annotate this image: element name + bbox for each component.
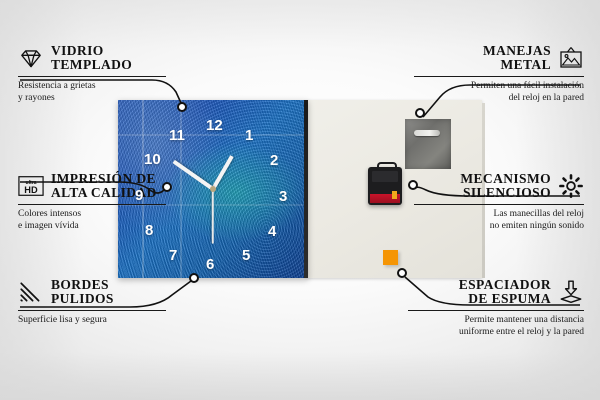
quartz-movement-box (368, 167, 402, 205)
callout-mecanismo-silencioso[interactable]: MECANISMO SILENCIOSO Las manecillas del … (412, 172, 584, 232)
callout-head: MECANISMO SILENCIOSO (412, 172, 584, 200)
movement-top (372, 171, 398, 182)
foam-spacer (383, 250, 398, 265)
clock-numeral-1: 1 (245, 128, 253, 143)
callout-rule (18, 310, 166, 311)
clock-hour-hand (211, 155, 233, 190)
clock-numeral-7: 7 (169, 248, 177, 263)
callout-title: MANEJAS METAL (483, 44, 551, 72)
callout-head: BORDES PULIDOS (18, 278, 168, 306)
hanger-slot (414, 130, 440, 136)
clock-numeral-9: 9 (135, 188, 143, 203)
ultra-hd-icon: ultra HD (18, 173, 44, 199)
diamond-icon (18, 45, 44, 71)
callout-rule (414, 76, 584, 77)
callout-description: Las manecillas del reloj no emiten ningú… (412, 209, 584, 232)
callout-bordes-pulidos[interactable]: BORDES PULIDOS Superficie lisa y segura (18, 278, 168, 327)
callout-description: Resistencia a grietas y rayones (18, 81, 168, 104)
callout-espaciador-espuma[interactable]: ESPACIADOR DE ESPUMA Permite mantener un… (406, 278, 584, 338)
metal-hanger-plate (405, 119, 451, 169)
callout-rule (18, 76, 166, 77)
callout-manejas-metal[interactable]: MANEJAS METAL Permiten una fácil instala… (412, 44, 584, 104)
movement-label (370, 194, 400, 203)
clock-numeral-5: 5 (242, 248, 250, 263)
callout-title: ESPACIADOR DE ESPUMA (459, 278, 551, 306)
callout-head: VIDRIO TEMPLADO (18, 44, 168, 72)
callout-title: VIDRIO TEMPLADO (51, 44, 132, 72)
movement-handle (377, 162, 397, 171)
clock-numeral-4: 4 (268, 224, 276, 239)
clock-numeral-3: 3 (279, 189, 287, 204)
clock-numeral-12: 12 (206, 118, 223, 133)
clock-minute-hand (173, 160, 215, 191)
callout-title: BORDES PULIDOS (51, 278, 114, 306)
clock-edge (304, 100, 308, 278)
clock-numeral-11: 11 (169, 128, 185, 143)
callout-head: ESPACIADOR DE ESPUMA (406, 278, 584, 306)
clock-second-hand (212, 189, 214, 244)
infographic-canvas: 12 1 2 3 4 5 6 7 8 9 10 11 (0, 0, 600, 400)
callout-head: MANEJAS METAL (412, 44, 584, 72)
clock-hand-hub (210, 186, 216, 192)
gear-icon (558, 173, 584, 199)
clock-numeral-2: 2 (270, 153, 278, 168)
callout-head: ultra HD IMPRESIÓN DE ALTA CALIDAD (18, 172, 168, 200)
clock-numeral-8: 8 (145, 223, 153, 238)
svg-text:HD: HD (24, 185, 38, 195)
callout-vidrio-templado[interactable]: VIDRIO TEMPLADO Resistencia a grietas y … (18, 44, 168, 104)
callout-description: Superficie lisa y segura (18, 315, 168, 327)
polished-edges-icon (18, 279, 44, 305)
callout-title: MECANISMO SILENCIOSO (460, 172, 551, 200)
callout-rule (408, 310, 584, 311)
clock-numeral-10: 10 (144, 152, 161, 167)
foam-spacer-icon (558, 279, 584, 305)
picture-hanger-icon (558, 45, 584, 71)
clock-numeral-6: 6 (206, 257, 214, 272)
callout-description: Permite mantener una distancia uniforme … (406, 315, 584, 338)
callout-description: Permiten una fácil instalación del reloj… (412, 81, 584, 104)
callout-rule (18, 204, 166, 205)
callout-rule (414, 204, 584, 205)
